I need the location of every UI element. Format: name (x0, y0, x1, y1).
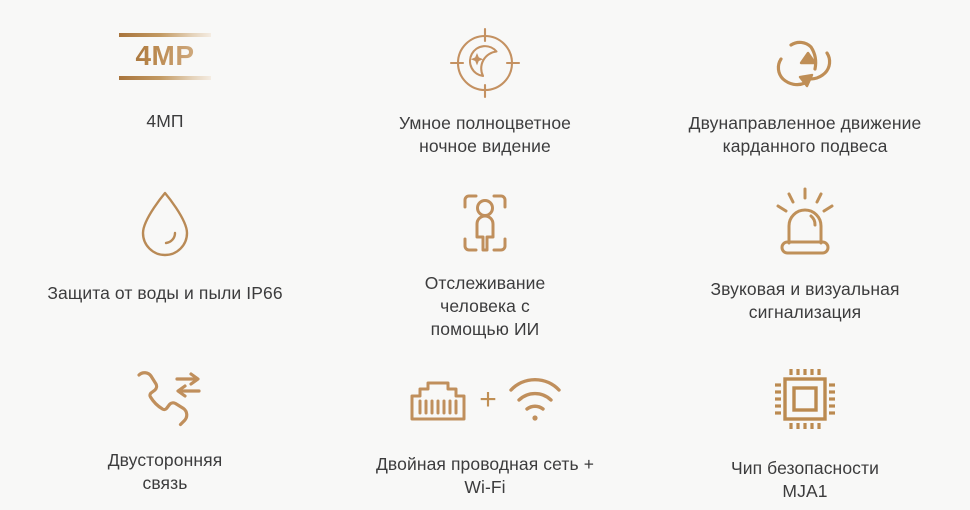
feature-caption: Звуковая и визуальная сигнализация (710, 278, 899, 324)
badge-text: 4MP (119, 37, 211, 76)
feature-caption: Защита от воды и пыли IP66 (47, 282, 282, 305)
feature-tile-weatherproof: Защита от воды и пыли IP66 (0, 170, 330, 345)
feature-caption: Двунаправленное движение карданного подв… (689, 112, 922, 158)
feature-tile-night-vision: Умное полноцветное ночное видение (330, 0, 640, 170)
wifi-signal-icon (506, 374, 564, 424)
feature-caption: Двойная проводная сеть + Wi-Fi (376, 453, 594, 499)
feature-grid: 4MP 4МП Умное полноцветное ночное видени… (0, 0, 970, 510)
ethernet-port-icon (406, 371, 470, 427)
feature-caption: Отслеживание человека с помощью ИИ (425, 272, 546, 341)
feature-tile-security-chip: Чип безопасности MJA1 (640, 345, 970, 510)
feature-caption: Чип безопасности MJA1 (731, 457, 879, 503)
feature-tile-two-way-audio: Двусторонняя связь (0, 345, 330, 510)
feature-tile-gimbal-movement: Двунаправленное движение карданного подв… (640, 0, 970, 170)
person-tracking-frame-icon (447, 184, 523, 264)
water-droplet-icon (134, 184, 196, 264)
feature-tile-ai-human-tracking: Отслеживание человека с помощью ИИ (330, 170, 640, 345)
cpu-chip-icon (772, 361, 838, 437)
feature-caption: Двусторонняя связь (108, 449, 223, 495)
feature-caption: 4МП (146, 110, 183, 133)
4mp-badge-icon: 4MP (119, 26, 211, 86)
feature-tile-alarm: Звуковая и визуальная сигнализация (640, 170, 970, 345)
badge-bottom-rule (119, 76, 211, 80)
siren-beacon-icon (770, 184, 840, 264)
plus-separator: + (479, 385, 497, 415)
feature-tile-resolution: 4MP 4МП (0, 0, 330, 170)
moon-crosshair-icon (446, 26, 524, 98)
bidirectional-rotation-arrows-icon (767, 26, 843, 98)
feature-tile-network: + Двойная проводная сеть + Wi-Fi (330, 345, 640, 510)
phone-handset-exchange-icon (117, 361, 213, 437)
feature-caption: Умное полноцветное ночное видение (399, 112, 571, 158)
